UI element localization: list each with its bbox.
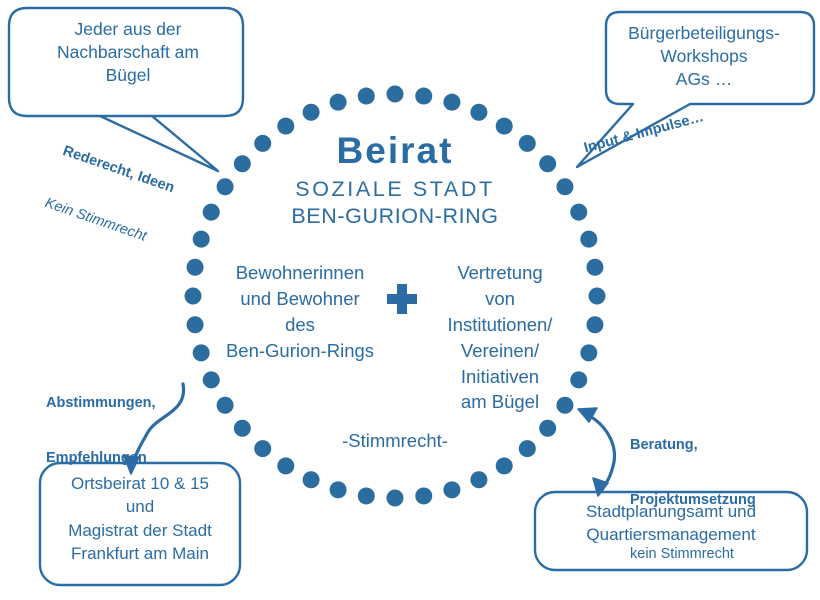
connector-label-bottom-right-line2: Projektumsetzung — [630, 491, 756, 509]
connector-label-bottom-right-line3: kein Stimmrecht — [630, 545, 756, 563]
ring-dot — [387, 86, 404, 103]
ring-dot — [254, 440, 271, 457]
ring-dot — [580, 231, 597, 248]
connector-label-bottom-left: Abstimmungen, Empfehlungen — [46, 358, 156, 503]
plus-icon — [387, 284, 417, 314]
voting-rights-note: -Stimmrecht- — [295, 430, 495, 453]
connector-label-bottom-right-line1: Beratung, — [630, 436, 756, 454]
arrow-beratung-curve — [586, 414, 614, 490]
page-title: Beirat — [255, 128, 535, 173]
connector-label-top-left-line2: Kein Stimmrecht — [43, 194, 159, 249]
ring-dot — [496, 457, 513, 474]
ring-dot — [330, 481, 347, 498]
ring-dot — [589, 288, 606, 305]
ring-dot — [193, 231, 210, 248]
ring-dot — [443, 481, 460, 498]
ring-dot — [470, 471, 487, 488]
ring-dot — [187, 259, 204, 276]
member-column-institutions: Vertretung von Institutionen/ Vereinen/ … — [424, 260, 576, 415]
ring-dot — [217, 178, 234, 195]
ring-dot — [330, 94, 347, 111]
connector-label-bottom-right: Beratung, Projektumsetzung kein Stimmrec… — [630, 400, 756, 599]
ring-dot — [358, 487, 375, 504]
diagram-canvas: Jeder aus der Nachbarschaft am Bügel Bür… — [0, 0, 820, 600]
ring-dot — [415, 487, 432, 504]
ring-dot — [415, 88, 432, 105]
ring-dot — [470, 104, 487, 121]
ring-dot — [443, 94, 460, 111]
ring-dot — [539, 420, 556, 437]
ring-dot — [586, 316, 603, 333]
ring-dot — [303, 104, 320, 121]
ring-dot — [303, 471, 320, 488]
speech-bubble-top-left-text: Jeder aus der Nachbarschaft am Bügel — [18, 18, 238, 86]
ring-dot — [234, 155, 251, 172]
subtitle-line-1: SOZIALE STADT — [255, 176, 535, 202]
ring-dot — [358, 88, 375, 105]
connector-label-top-left-line1: Rederecht, Ideen — [60, 142, 176, 197]
ring-dot — [203, 371, 220, 388]
connector-label-bottom-left-line1: Abstimmungen, — [46, 394, 156, 412]
ring-dot — [217, 397, 234, 414]
ring-dot — [556, 178, 573, 195]
ring-dot — [586, 259, 603, 276]
subtitle-line-2: BEN-GURION-RING — [255, 203, 535, 229]
ring-dot — [187, 316, 204, 333]
ring-dot — [539, 155, 556, 172]
ring-dot — [203, 204, 220, 221]
ring-dot — [277, 457, 294, 474]
ring-dot — [519, 440, 536, 457]
ring-dot — [234, 420, 251, 437]
member-column-residents: Bewohnerinnen und Bewohner des Ben-Gurio… — [212, 260, 388, 364]
ring-dot — [570, 204, 587, 221]
ring-dot — [193, 344, 210, 361]
speech-bubble-top-right-text: Bürgerbeteiligungs- Workshops AGs … — [604, 22, 804, 90]
ring-dot — [387, 490, 404, 507]
ring-dot — [185, 288, 202, 305]
ring-dot — [580, 344, 597, 361]
connector-label-bottom-left-line2: Empfehlungen — [46, 449, 156, 467]
